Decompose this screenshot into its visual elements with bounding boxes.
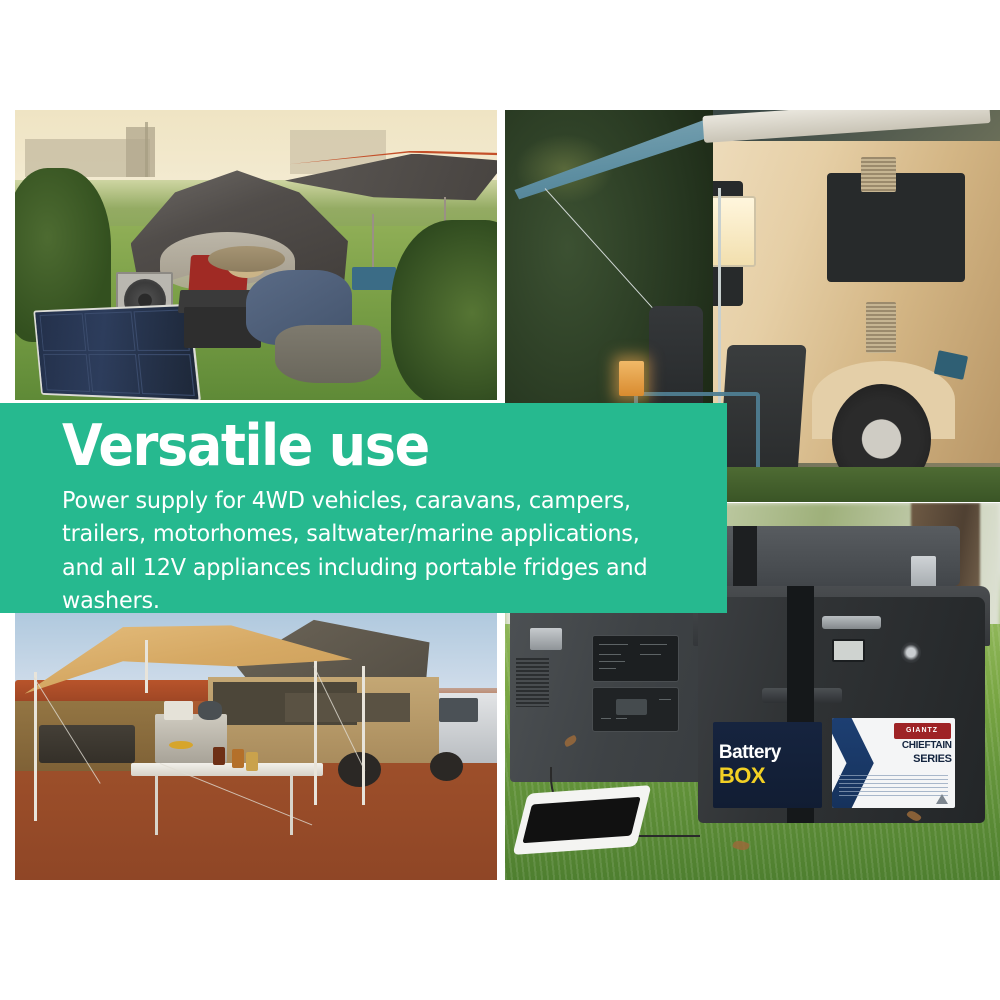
warning-triangle-icon: [936, 794, 948, 804]
awning-roller: [702, 110, 990, 144]
battery-label-line1: Battery: [719, 743, 822, 762]
fridge-lid-strap: [733, 526, 758, 594]
caravan-vent: [861, 157, 896, 192]
chieftain-series-label: GIANTZ CHIEFTAIN SERIES: [832, 718, 956, 808]
battery-box-label: Battery BOX: [713, 722, 822, 809]
fridge-handle: [530, 628, 563, 650]
camp-lantern: [619, 361, 644, 396]
feature-bullet-lines: [839, 772, 948, 799]
versatile-use-panel: Versatile use Power supply for 4WD vehic…: [0, 403, 727, 613]
giantz-brand-logo: GIANTZ: [894, 723, 951, 738]
cooler-box: [352, 267, 395, 290]
page-title: Versatile use: [62, 417, 674, 475]
fridge-spec-plate: [592, 635, 679, 682]
battery-box-socket: [901, 642, 921, 663]
background-mast: [145, 122, 148, 177]
series-line2: SERIES: [880, 754, 952, 766]
bottle: [246, 752, 258, 771]
camp-chairs: [39, 725, 135, 762]
panel-description: Power supply for 4WD vehicles, caravans,…: [62, 484, 651, 617]
person-legs: [275, 325, 381, 383]
background-tower: [126, 127, 155, 176]
tablet-screen: [522, 796, 640, 843]
fridge-control-panel: [592, 687, 679, 731]
foreground-shrub: [391, 220, 497, 400]
trailer-wheel: [338, 752, 381, 787]
battery-box-top-grip: [822, 616, 881, 629]
fridge-vent: [516, 658, 549, 708]
photo-outback-camper-trailer: [15, 613, 497, 880]
product-feature-banner: Battery BOX GIANTZ CHIEFTAIN SERIES Vers…: [0, 0, 1000, 1000]
folding-table: [131, 763, 324, 776]
tablet-device: [512, 785, 651, 855]
trailer-mesh-panel: [285, 693, 410, 722]
caravan-vent: [866, 302, 896, 353]
bottle: [232, 749, 244, 768]
battery-box-voltmeter: [832, 639, 866, 662]
caravan-window-dark: [827, 173, 966, 283]
kettle: [198, 701, 222, 720]
series-line1: CHIEFTAIN: [880, 741, 952, 752]
photo-camping-solar-setup: [15, 110, 497, 400]
water-jug: [164, 701, 193, 720]
bottle: [213, 747, 225, 766]
vehicle-window: [439, 698, 478, 722]
flexible-solar-panel: [34, 304, 202, 400]
battery-label-line2: BOX: [719, 765, 822, 787]
